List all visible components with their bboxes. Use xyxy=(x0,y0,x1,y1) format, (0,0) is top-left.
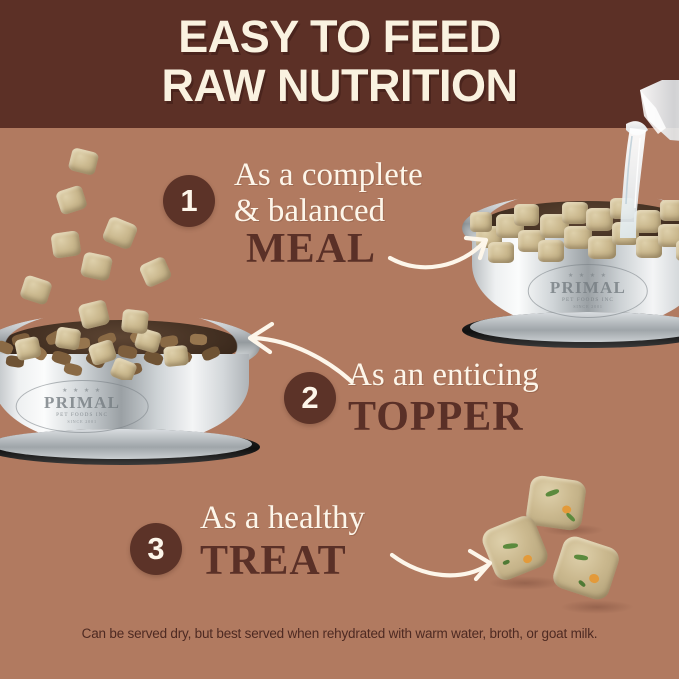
nugget xyxy=(77,299,110,330)
bowl-topper-base xyxy=(0,429,252,459)
step-2-lead: As an enticing xyxy=(348,357,678,393)
nugget xyxy=(101,215,139,250)
treat-shadow xyxy=(560,600,634,614)
logo-since: SINCE 2001 xyxy=(573,304,603,310)
title-line-1: EASY TO FEED xyxy=(178,11,500,62)
logo-stars: ★ ★ ★ ★ xyxy=(568,273,608,279)
step-1-keyword: MEAL xyxy=(246,228,376,270)
step-1-arrow-icon xyxy=(388,218,498,274)
nugget xyxy=(80,251,114,281)
logo-subtitle: PET FOODS INC xyxy=(56,412,108,419)
step-3-lead: As a healthy xyxy=(200,500,500,536)
product-infographic: ★ ★ ★ ★ PRIMAL PET FOODS INC SINCE 2001 xyxy=(0,0,679,679)
bowl-topper-logo: ★ ★ ★ ★ PRIMAL PET FOODS INC SINCE 2001 xyxy=(16,380,149,433)
logo-name: PRIMAL xyxy=(44,394,120,412)
footer-note: Can be served dry, but best served when … xyxy=(0,626,679,641)
page-title: EASY TO FEED RAW NUTRITION xyxy=(0,14,679,108)
bowl-meal-logo: ★ ★ ★ ★ PRIMAL PET FOODS INC SINCE 2001 xyxy=(528,264,648,318)
step-1-number: 1 xyxy=(180,183,197,219)
logo-subtitle: PET FOODS INC xyxy=(562,297,614,304)
water-pitcher-icon xyxy=(596,78,679,238)
step-3-number: 3 xyxy=(147,531,164,567)
nugget xyxy=(68,147,100,176)
step-3-arrow-icon xyxy=(390,543,500,595)
logo-since: SINCE 2001 xyxy=(67,419,97,425)
nugget xyxy=(19,274,53,305)
step-3-keyword: TREAT xyxy=(200,540,347,582)
step-1-badge: 1 xyxy=(163,175,215,227)
logo-name: PRIMAL xyxy=(550,279,626,297)
step-3-badge: 3 xyxy=(130,523,182,575)
nugget xyxy=(121,309,149,335)
step-2-badge: 2 xyxy=(284,372,336,424)
title-line-2: RAW NUTRITION xyxy=(0,63,679,108)
logo-stars: ★ ★ ★ ★ xyxy=(62,388,102,394)
step-2-number: 2 xyxy=(301,380,318,416)
nugget xyxy=(138,256,172,289)
nugget xyxy=(50,230,81,259)
step-2-keyword: TOPPER xyxy=(348,396,524,438)
nugget xyxy=(55,184,88,215)
